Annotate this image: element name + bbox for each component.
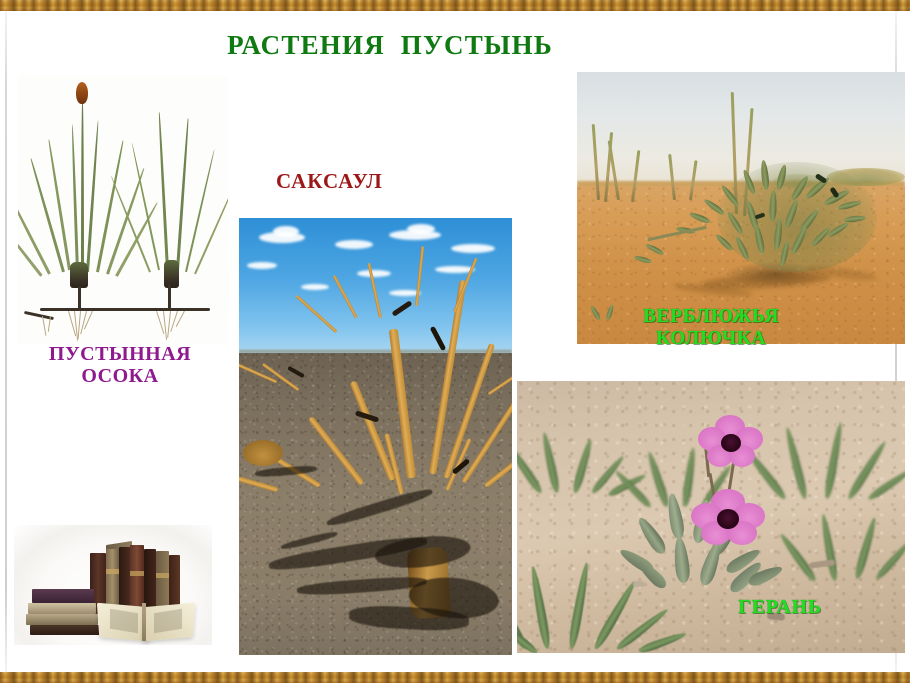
- camel-thorn-photo: [577, 72, 905, 344]
- bottom-ornamental-border: [0, 672, 910, 683]
- presentation-slide: РАСТЕНИЯ ПУСТЫНЬ: [0, 0, 910, 683]
- geranium-flower-lower: [693, 489, 763, 551]
- illustration-background: [18, 76, 228, 344]
- sedge-spikelet: [76, 82, 88, 104]
- desert-sedge-illustration: [18, 76, 228, 344]
- saxaul-shrub-photo: [239, 218, 512, 655]
- geranium-flower-upper: [699, 415, 763, 473]
- caption-desert-sedge: ПУСТЫННАЯ ОСОКА: [14, 343, 226, 388]
- antique-books-photo: [14, 525, 212, 645]
- top-ornamental-border: [0, 0, 910, 11]
- slide-title: РАСТЕНИЯ ПУСТЫНЬ: [0, 30, 780, 61]
- caption-camel-thorn: ВЕРБЛЮЖЬЯ КОЛЮЧКА: [588, 306, 834, 350]
- left-vertical-rule: [5, 11, 7, 672]
- caption-geranium: ГЕРАНЬ: [700, 596, 860, 618]
- caption-saxaul: САКСАУЛ: [238, 170, 476, 194]
